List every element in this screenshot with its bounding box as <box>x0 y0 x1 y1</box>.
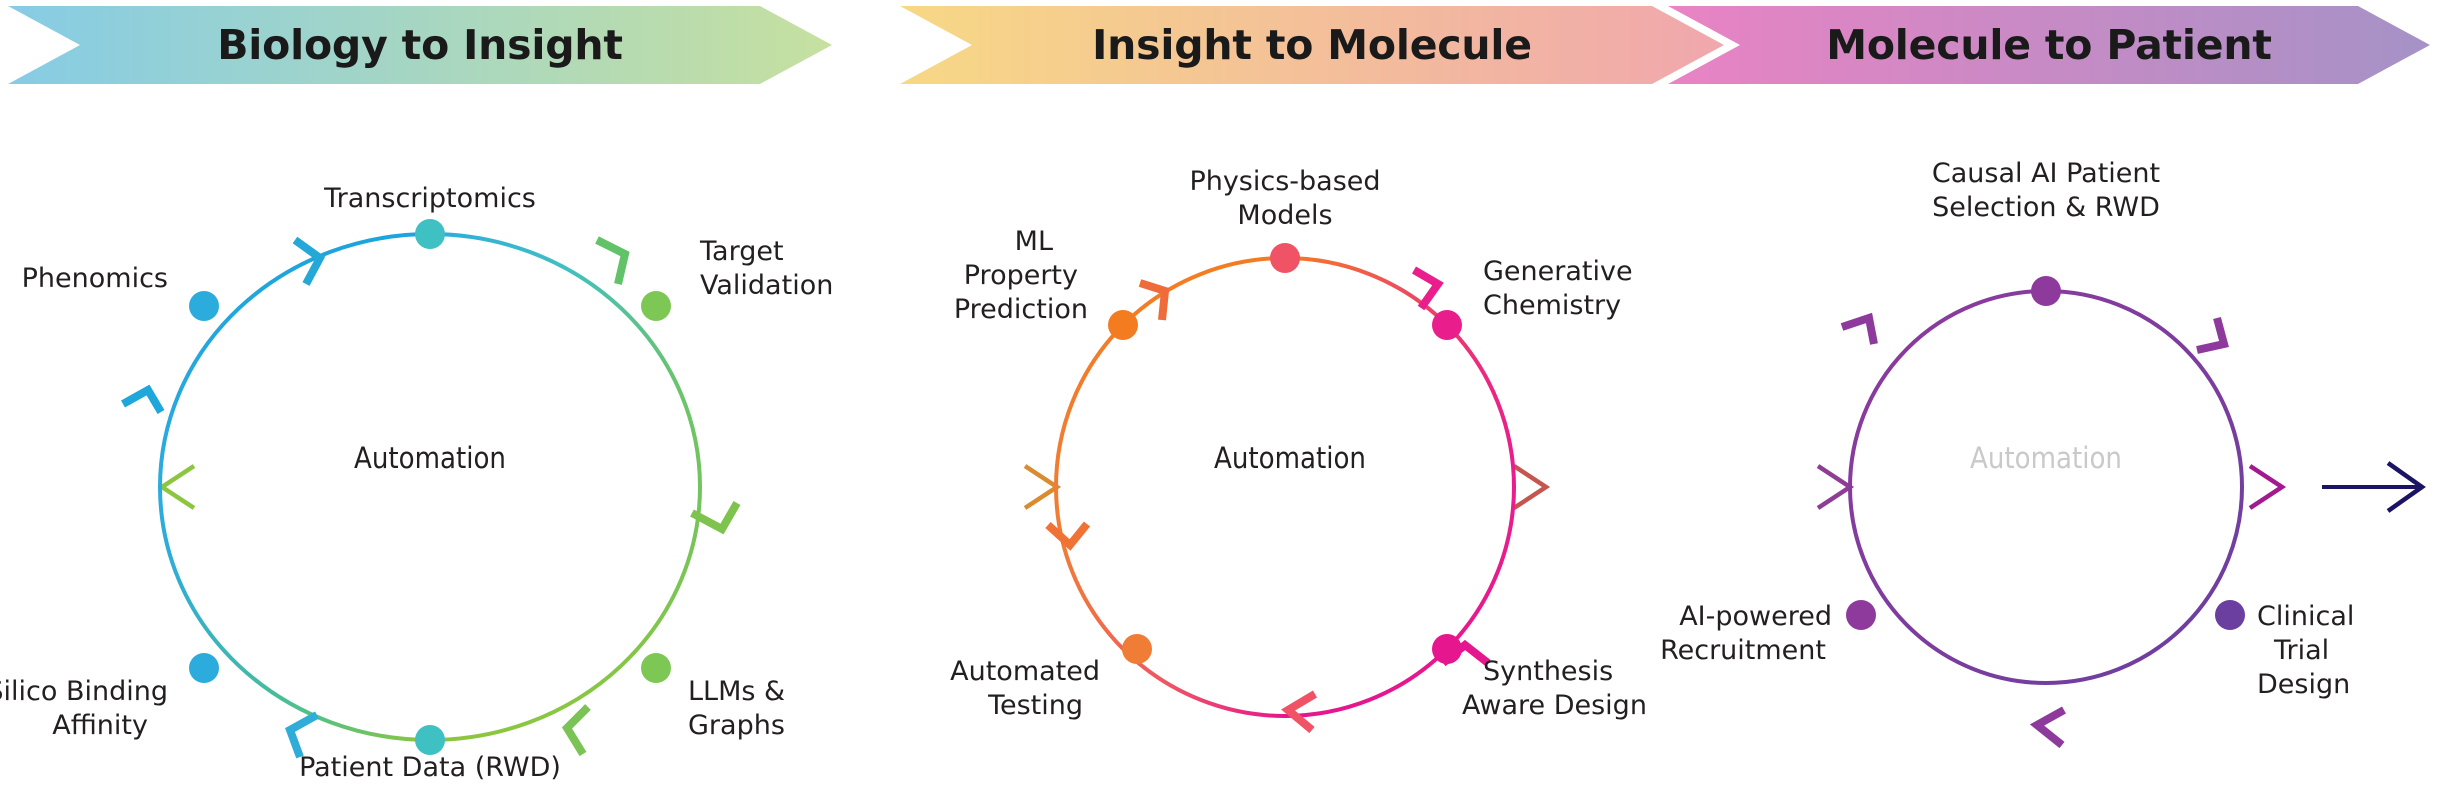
banner-biology-to-insight[interactable]: Biology to Insight <box>8 6 832 84</box>
cycle-insight-to-molecule: Physics-basedModels GenerativeChemistry … <box>950 166 1647 730</box>
banner-insight-to-molecule[interactable]: Insight to Molecule <box>900 6 1724 84</box>
arrow-head-icon <box>597 240 625 284</box>
cycle-node[interactable] <box>1432 310 1462 340</box>
node-label-llms-graphs: LLMs &Graphs <box>688 676 785 741</box>
node-label-target-validation: TargetValidation <box>699 236 833 301</box>
cycle-node[interactable] <box>641 653 671 683</box>
node-label-transcriptomics: Transcriptomics <box>323 183 536 214</box>
arrow-head-icon <box>567 707 588 754</box>
cycle-arc-right-bottom <box>1285 487 1514 716</box>
cycle-biology-to-insight: Transcriptomics TargetValidation LLMs &G… <box>0 183 833 783</box>
node-label-ai-powered-recruitment: AI-poweredRecruitment <box>1660 601 1832 666</box>
cycle-node[interactable] <box>1846 600 1876 630</box>
banner-label: Molecule to Patient <box>1826 21 2272 69</box>
cycle-molecule-to-patient: Causal AI PatientSelection & RWD Clinica… <box>1660 158 2354 745</box>
cycle-node[interactable] <box>641 291 671 321</box>
cycle-node[interactable] <box>1108 310 1138 340</box>
banner-label: Insight to Molecule <box>1092 21 1532 69</box>
cycle-center-label: Automation <box>1214 441 1366 475</box>
banner-row: Biology to Insight Insight to Molecule M… <box>8 6 2430 84</box>
banner-molecule-to-patient[interactable]: Molecule to Patient <box>1668 6 2430 84</box>
banner-label: Biology to Insight <box>217 21 623 69</box>
arrow-head-icon <box>290 715 317 757</box>
cycle-node[interactable] <box>2215 600 2245 630</box>
node-label-generative-chemistry: GenerativeChemistry <box>1483 256 1633 321</box>
arrow-head-icon <box>123 390 161 412</box>
cycle-node[interactable] <box>1270 243 1300 273</box>
node-label-physics-based-models: Physics-basedModels <box>1189 166 1380 231</box>
cycle-node[interactable] <box>415 725 445 755</box>
diagram-svg: Biology to Insight Insight to Molecule M… <box>0 0 2437 800</box>
cycle-node[interactable] <box>1122 634 1152 664</box>
arrow-head-icon <box>2197 318 2224 350</box>
arrow-head-icon <box>1288 694 1315 730</box>
node-label-in-silico: In Silico BindingAffinity <box>0 676 168 741</box>
cycle-arc-right-bottom <box>430 487 700 740</box>
node-label-synthesis-aware-design: SynthesisAware Design <box>1462 656 1647 721</box>
cycle-node[interactable] <box>1432 634 1462 664</box>
node-label-clinical-trial-design: ClinicalTrialDesign <box>2257 601 2354 700</box>
cycle-node[interactable] <box>415 219 445 249</box>
diagram-canvas: Biology to Insight Insight to Molecule M… <box>0 0 2437 800</box>
node-label-causal-ai-patient-selection: Causal AI PatientSelection & RWD <box>1932 158 2160 223</box>
cycle-center-label: Automation <box>354 441 506 475</box>
node-label-patient-data: Patient Data (RWD) <box>299 752 561 783</box>
node-label-phenomics: Phenomics <box>22 263 168 294</box>
node-label-ml-property-prediction: MLPropertyPrediction <box>954 226 1088 325</box>
cycle-node[interactable] <box>2031 276 2061 306</box>
node-label-automated-testing: AutomatedTesting <box>950 656 1100 721</box>
cycle-node[interactable] <box>189 653 219 683</box>
cycle-node[interactable] <box>189 291 219 321</box>
cycle-center-label: Automation <box>1970 441 2122 475</box>
cycle-arc-left-bottom <box>160 487 430 740</box>
arrow-head-icon <box>1048 524 1087 545</box>
arrow-head-icon <box>2037 710 2064 745</box>
arrow-head-icon <box>1842 318 1874 344</box>
arrow-head-icon <box>1873 305 1900 339</box>
